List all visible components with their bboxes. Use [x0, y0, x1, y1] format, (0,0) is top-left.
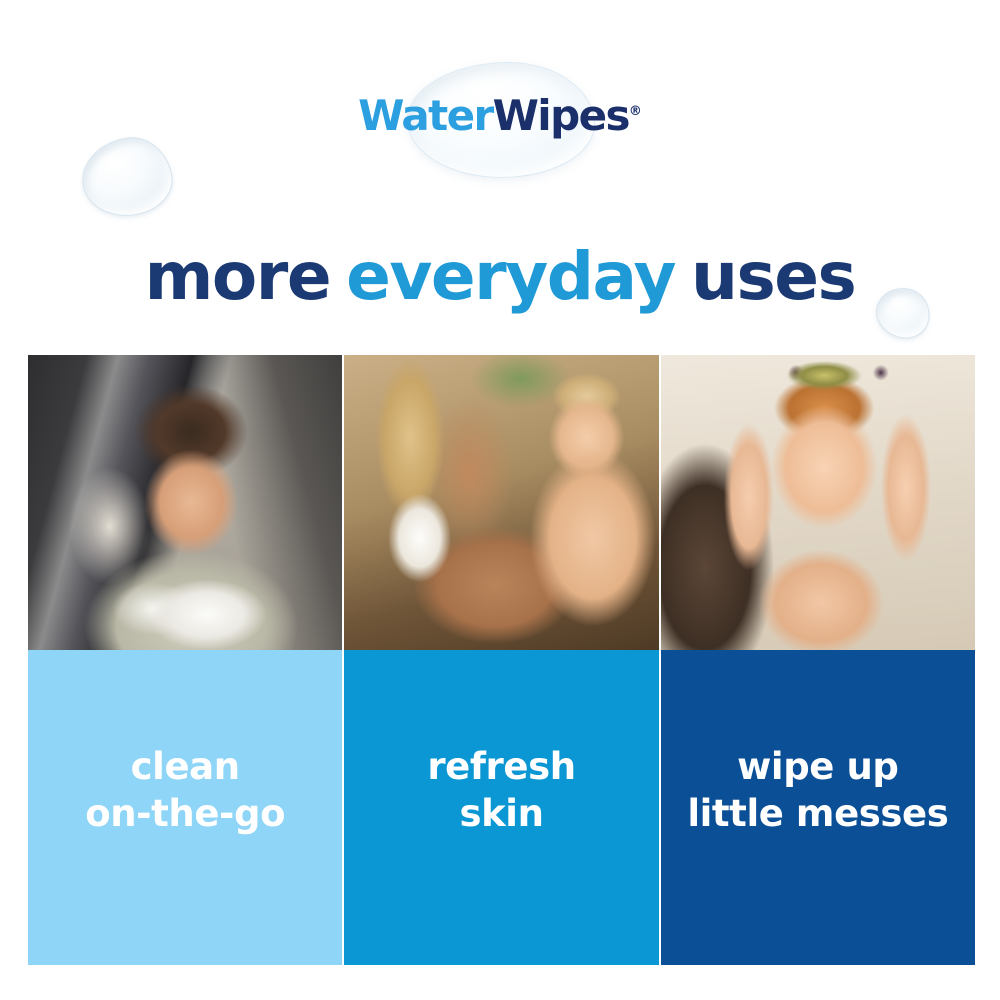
headline-word-more: more — [145, 238, 330, 315]
panel-caption-area-3: wipe up little messes — [661, 655, 975, 965]
panel-caption-refresh-skin: refresh skin — [427, 743, 575, 838]
use-case-panel-clean-on-the-go[interactable]: clean on-the-go — [28, 355, 342, 965]
panel-photo-refresh-skin — [344, 355, 658, 650]
panel-caption-area-1: clean on-the-go — [28, 655, 342, 965]
photo-messy-baby-high-chair — [661, 355, 975, 650]
use-case-panel-group: clean on-the-go refresh skin wipe up lit… — [28, 355, 975, 965]
headline-word-everyday: everyday — [346, 238, 675, 315]
brand-wordmark: WaterWipes® — [358, 95, 642, 137]
ad-canvas: WaterWipes® moreeverydayuses clean on-th… — [0, 0, 1000, 1000]
photo-beach-foot-wipe — [344, 355, 658, 650]
panel-photo-wipe-up-little-messes — [661, 355, 975, 650]
photo-baby-in-car-seat — [28, 355, 342, 650]
use-case-panel-refresh-skin[interactable]: refresh skin — [344, 355, 658, 965]
page-title: moreeverydayuses — [0, 242, 1000, 311]
brand-wordmark-wipes: Wipes — [493, 91, 629, 140]
brand-wordmark-water: Water — [358, 91, 492, 140]
panel-caption-area-2: refresh skin — [344, 655, 658, 965]
panel-caption-clean-on-the-go: clean on-the-go — [85, 743, 285, 838]
use-case-panel-wipe-up-little-messes[interactable]: wipe up little messes — [661, 355, 975, 965]
panel-photo-clean-on-the-go — [28, 355, 342, 650]
registered-trademark-symbol: ® — [629, 104, 642, 119]
headline-word-uses: uses — [691, 238, 855, 315]
panel-caption-wipe-up-little-messes: wipe up little messes — [687, 743, 948, 838]
brand-logo: WaterWipes® — [0, 56, 1000, 176]
